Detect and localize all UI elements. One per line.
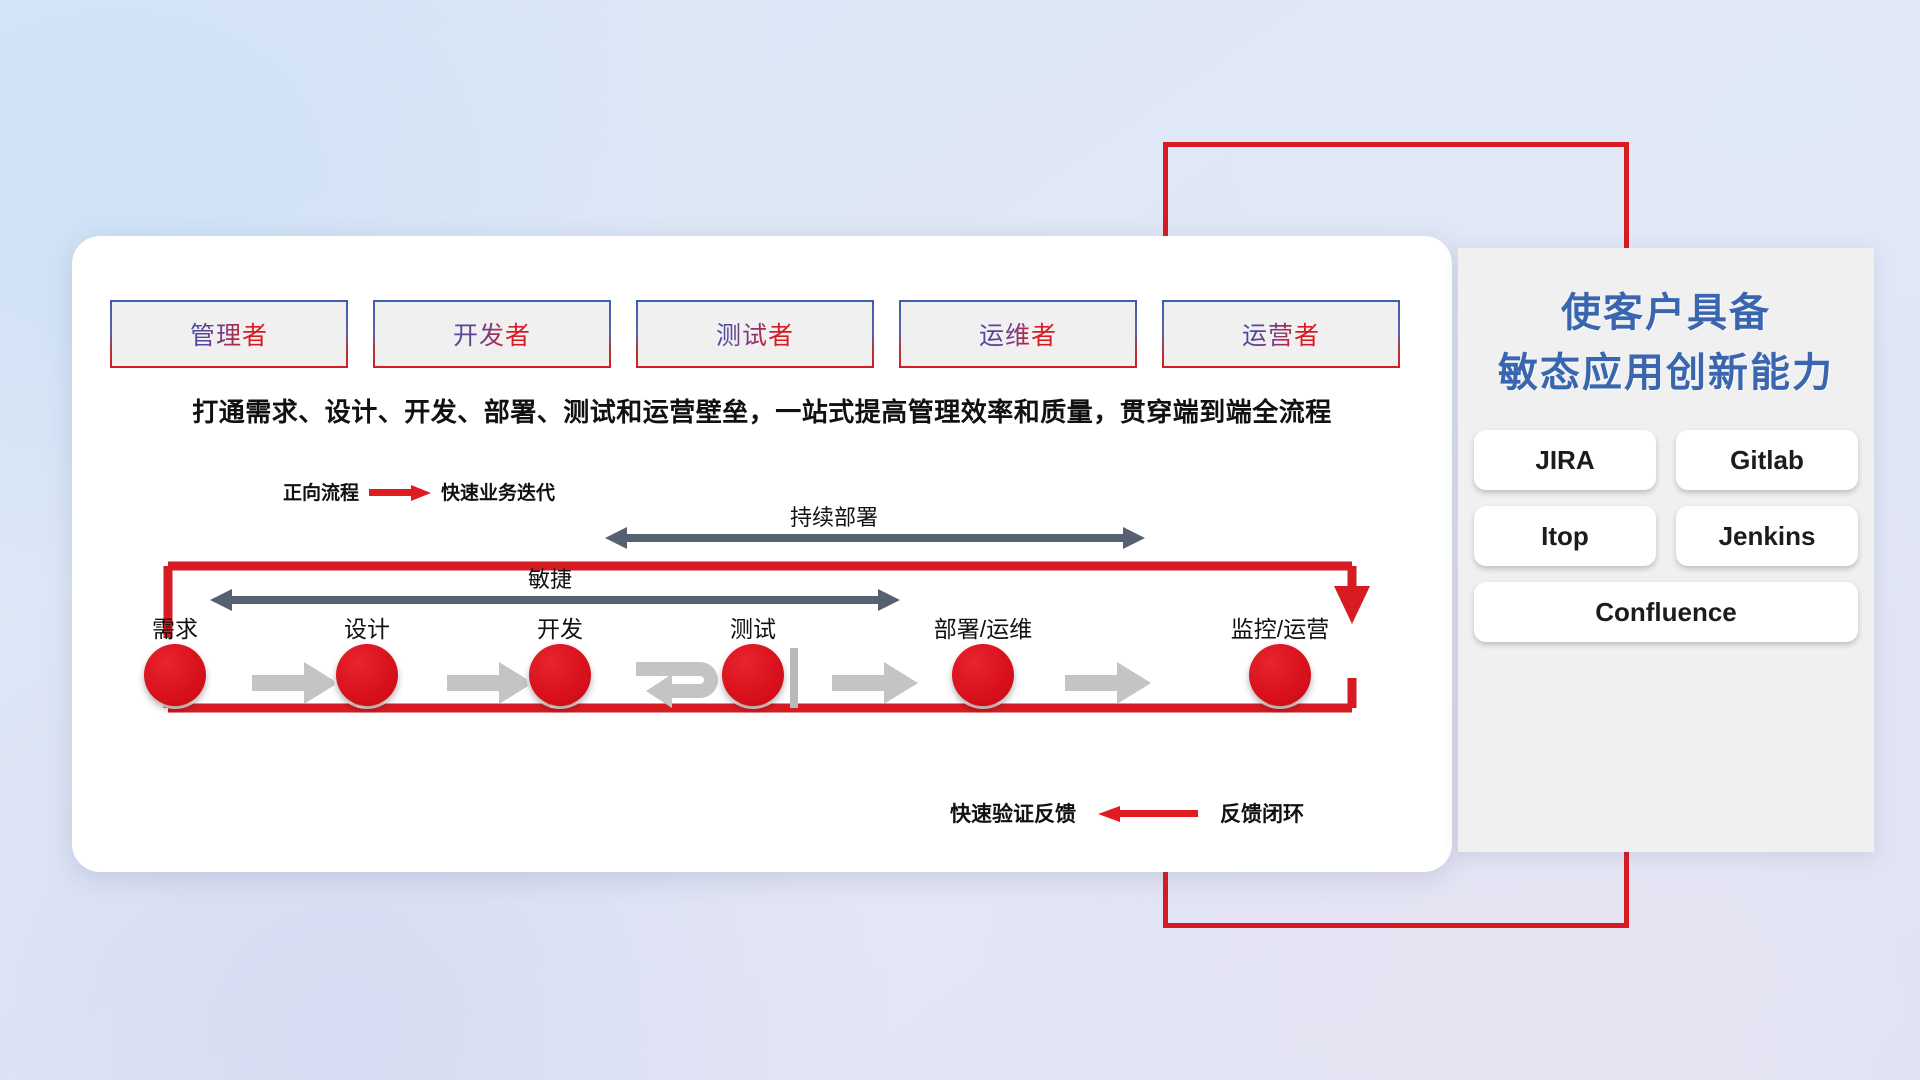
description-text: 打通需求、设计、开发、部署、测试和运营壁垒，一站式提高管理效率和质量，贯穿端到端… [72, 392, 1452, 429]
stage-dot-icon [722, 644, 784, 706]
tool-chip-jira[interactable]: JIRA [1474, 430, 1656, 490]
role-label: 测试者 [716, 316, 794, 352]
stage-label: 需求 [152, 610, 198, 644]
legend-forward-from-label: 正向流程 [283, 478, 359, 505]
panel-title-line-2: 敏态应用创新能力 [1458, 342, 1874, 404]
tool-chip-label: Jenkins [1719, 521, 1816, 552]
role-label: 管理者 [190, 316, 268, 352]
stage-dot-icon [529, 644, 591, 706]
role-label: 运营者 [1242, 316, 1320, 352]
gray-arrow-right-icon [832, 662, 918, 704]
legend-feedback-loop: 快速验证反馈 反馈闭环 [950, 798, 1304, 828]
tool-chip-list: JIRA Gitlab Itop Jenkins Confluence [1474, 430, 1858, 642]
panel-title: 使客户具备 敏态应用创新能力 [1458, 248, 1874, 404]
legend-forward-flow: 正向流程 快速业务迭代 [283, 478, 555, 505]
gray-arrow-right-icon [447, 662, 533, 704]
tool-chip-label: Itop [1541, 521, 1589, 552]
role-box-ops[interactable]: 运维者 [899, 300, 1137, 368]
tool-chip-confluence[interactable]: Confluence [1474, 582, 1858, 642]
stage-dot-icon [952, 644, 1014, 706]
value-proposition-panel: 使客户具备 敏态应用创新能力 JIRA Gitlab Itop Jenkins … [1458, 248, 1874, 852]
role-box-tester[interactable]: 测试者 [636, 300, 874, 368]
agile-arrow-icon [210, 589, 900, 611]
role-box-row: 管理者 开发者 测试者 运维者 运营者 [110, 300, 1400, 368]
role-box-operations[interactable]: 运营者 [1162, 300, 1400, 368]
red-arrow-left-icon [1098, 806, 1198, 820]
tool-chip-label: Gitlab [1730, 445, 1804, 476]
continuous-deployment-arrow-icon [605, 527, 1145, 549]
legend-forward-to-label: 快速业务迭代 [441, 478, 555, 505]
legend-feedback-to-label: 快速验证反馈 [950, 798, 1076, 828]
tool-chip-label: Confluence [1595, 597, 1737, 628]
pipeline-stage-row: 需求 设计 开发 测试 部署/运维 [110, 610, 1410, 740]
tool-chip-gitlab[interactable]: Gitlab [1676, 430, 1858, 490]
tool-chip-label: JIRA [1535, 445, 1594, 476]
stage-label: 测试 [730, 610, 776, 644]
red-arrow-right-icon [369, 485, 431, 499]
role-box-developer[interactable]: 开发者 [373, 300, 611, 368]
stage-label: 开发 [537, 610, 583, 644]
panel-title-line-1: 使客户具备 [1458, 284, 1874, 342]
stage-dot-icon [1249, 644, 1311, 706]
stage-label: 设计 [344, 610, 390, 644]
stage-label: 监控/运营 [1231, 610, 1329, 644]
stage-dot-icon [336, 644, 398, 706]
stage-dot-icon [144, 644, 206, 706]
tool-chip-jenkins[interactable]: Jenkins [1676, 506, 1858, 566]
gray-arrow-right-icon [1065, 662, 1151, 704]
gray-arrow-right-icon [252, 662, 338, 704]
role-label: 运维者 [979, 316, 1057, 352]
tool-chip-itop[interactable]: Itop [1474, 506, 1656, 566]
stage-label: 部署/运维 [934, 610, 1032, 644]
role-box-manager[interactable]: 管理者 [110, 300, 348, 368]
legend-feedback-from-label: 反馈闭环 [1220, 798, 1304, 828]
role-label: 开发者 [453, 316, 531, 352]
